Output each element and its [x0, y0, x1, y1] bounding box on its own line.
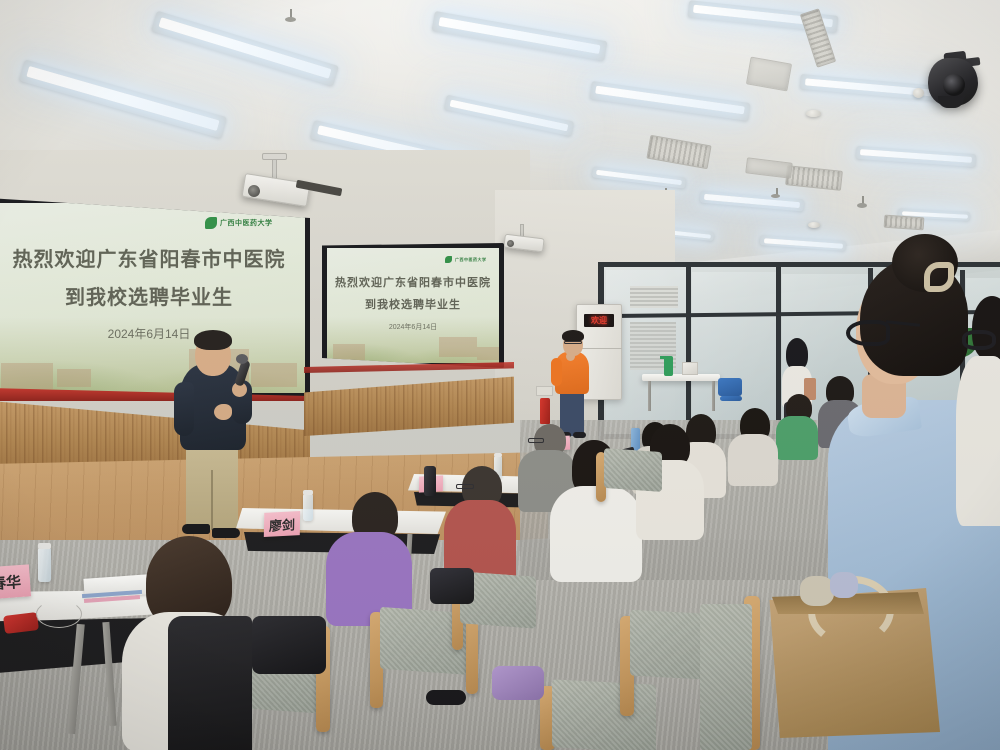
- slide-headline-1: 热烈欢迎广东省阳春市中医院: [327, 274, 499, 290]
- projection-screen-side: 广西中医药大学 热烈欢迎广东省阳春市中医院 到我校选聘毕业生 2024年6月14…: [322, 243, 504, 368]
- water-bottle: [303, 494, 313, 521]
- projector-lens-icon: [507, 240, 514, 247]
- table-leg: [712, 381, 715, 411]
- sprinkler-head: [285, 17, 296, 22]
- projection-screen-main: 广西中医药大学 热烈欢迎广东省阳春市中医院 到我校选聘毕业生 2024年6月14…: [0, 198, 310, 398]
- assistant-shoe: [573, 432, 586, 438]
- bottle-cap: [38, 543, 51, 549]
- slide-university-logo: 广西中医药大学: [445, 256, 487, 263]
- slide-building-graphic: [333, 344, 365, 360]
- stacking-chair[interactable]: [720, 396, 742, 401]
- screen-surface: 广西中医药大学 热烈欢迎广东省阳春市中医院 到我校选聘毕业生 2024年6月14…: [0, 203, 305, 393]
- chair-backrest: [552, 679, 656, 750]
- fire-extinguisher: [540, 398, 550, 424]
- stacking-chair[interactable]: [718, 378, 742, 396]
- projector-ceiling-plate: [262, 153, 287, 160]
- slide-date: 2024年6月14日: [0, 325, 305, 342]
- bottle-cap: [494, 453, 502, 457]
- speaker-hair: [194, 330, 232, 350]
- assistant-arm: [551, 358, 562, 386]
- tissue-box: [682, 362, 698, 375]
- lecture-hall-photo: 广西中医药大学 热烈欢迎广东省阳春市中医院 到我校选聘毕业生 2024年6月14…: [0, 0, 1000, 750]
- floor-bag: [430, 568, 474, 604]
- tote-bag-contents: [800, 576, 834, 606]
- name-placard: 春华: [0, 564, 31, 599]
- audience-body: [550, 486, 642, 582]
- slide-building-graphic: [57, 369, 91, 387]
- window-blinds: [630, 286, 678, 308]
- window-mullion: [776, 266, 781, 440]
- floor-shoe: [426, 690, 466, 705]
- floor-bag: [252, 616, 326, 674]
- name-placard-text: 廖剑: [269, 514, 295, 534]
- slide-headline-2: 到我校选聘毕业生: [0, 281, 305, 310]
- logo-mark-icon: [445, 256, 452, 263]
- led-display[interactable]: 欢迎: [584, 314, 614, 327]
- sprinkler-head: [857, 203, 867, 208]
- audience-head: [972, 296, 1000, 360]
- slide-headline-2: 到我校选聘毕业生: [327, 296, 499, 312]
- slide-building-graphic: [251, 363, 297, 387]
- air-vent: [884, 215, 925, 231]
- slide-logo-text: 广西中医药大学: [220, 218, 273, 228]
- slide-building-graphic: [439, 337, 477, 357]
- camera-lens-icon: [943, 74, 965, 96]
- hand-sanitizer-dispenser[interactable]: [664, 356, 673, 376]
- hair-clip-icon: [924, 262, 954, 292]
- microphone-head-icon: [236, 354, 248, 364]
- speaker-shoe: [212, 528, 240, 538]
- speaker-leg-split: [211, 470, 213, 530]
- speaker-arm-left: [174, 382, 194, 436]
- bottle-cap: [303, 490, 313, 495]
- side-table: [642, 374, 720, 381]
- fire-extinguisher-sign: [536, 386, 553, 396]
- audience-body: [776, 416, 818, 460]
- window-mullion: [686, 264, 691, 440]
- slide-headline-1: 热烈欢迎广东省阳春市中医院: [0, 243, 305, 272]
- audience-body: [728, 434, 778, 486]
- dispenser-nozzle: [660, 356, 668, 359]
- slide-logo-text: 广西中医药大学: [455, 257, 487, 263]
- sprinkler-head: [771, 194, 780, 198]
- chair-backrest: [700, 604, 752, 750]
- eyeglasses-icon: [962, 330, 996, 350]
- foreground-left-vest: [168, 616, 252, 750]
- slide-building-graphic: [477, 347, 499, 360]
- led-display-text: 欢迎: [591, 315, 607, 326]
- slide-date: 2024年6月14日: [327, 322, 499, 332]
- name-placard-text: 春华: [0, 570, 22, 593]
- speaker-shoe: [182, 524, 210, 534]
- floor-jacket: [492, 666, 544, 700]
- assistant-hand-mic: [566, 352, 575, 361]
- audience-body: [956, 356, 1000, 526]
- slide-building-graphic: [1, 363, 53, 389]
- tumbler: [424, 466, 436, 496]
- name-placard: 廖剑: [264, 511, 300, 537]
- table-leg: [648, 381, 651, 411]
- smoke-detector: [806, 110, 821, 117]
- water-bottle: [38, 548, 51, 582]
- audience-glasses-icon: [528, 438, 544, 443]
- eyeglasses-icon: [846, 320, 890, 346]
- slide-university-logo: 广西中医药大学: [205, 217, 273, 229]
- smoke-detector: [913, 88, 924, 98]
- assistant-legs: [560, 388, 584, 436]
- speaker-hand: [214, 404, 232, 420]
- tote-bag-contents: [830, 572, 858, 598]
- chair-backrest: [604, 448, 662, 492]
- charging-cable: [36, 600, 82, 628]
- smoke-detector: [808, 222, 820, 228]
- logo-mark-icon: [205, 217, 217, 229]
- audience-glasses-icon: [456, 484, 474, 489]
- screen-surface: 广西中医药大学 热烈欢迎广东省阳春市中医院 到我校选聘毕业生 2024年6月14…: [327, 248, 499, 363]
- assistant-glasses-icon: [564, 341, 582, 344]
- cabinet-door-line: [576, 348, 622, 349]
